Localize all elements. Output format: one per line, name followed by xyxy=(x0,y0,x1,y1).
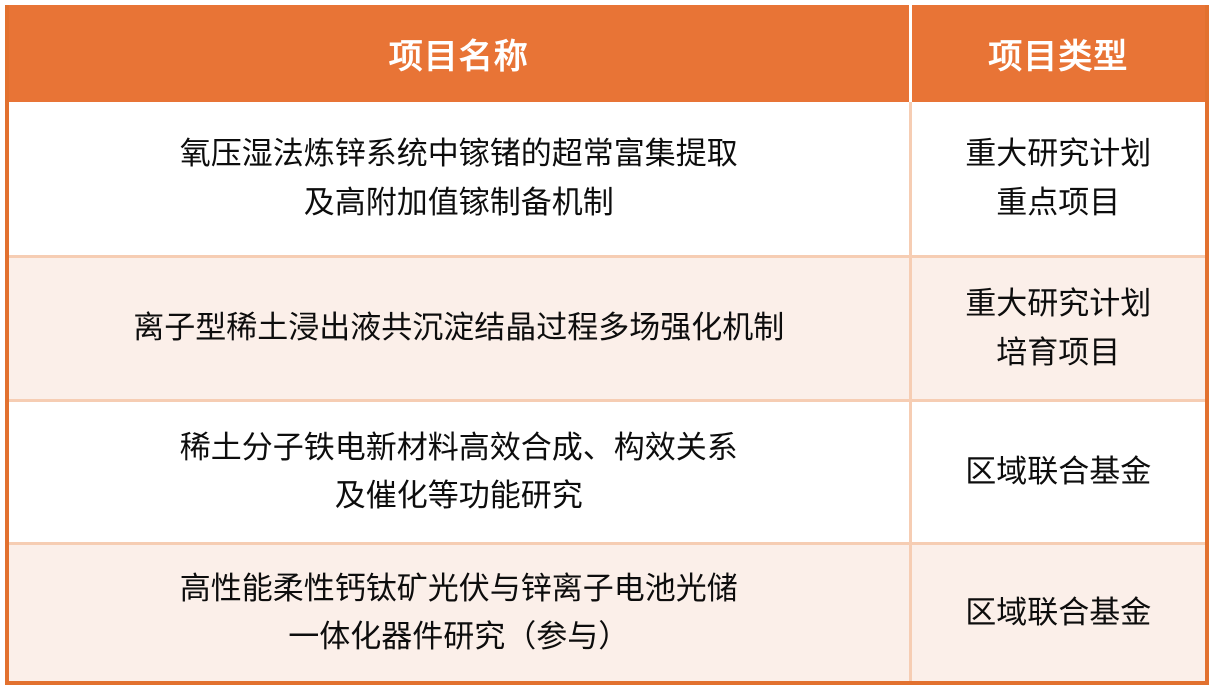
project-type-line: 区域联合基金 xyxy=(922,448,1196,496)
project-name-line: 氧压湿法炼锌系统中镓锗的超常富集提取 xyxy=(19,130,899,178)
table-body: 氧压湿法炼锌系统中镓锗的超常富集提取 及高附加值镓制备机制 重大研究计划 重点项… xyxy=(7,102,1207,683)
table-header: 项目名称 项目类型 xyxy=(7,5,1207,102)
cell-project-name: 氧压湿法炼锌系统中镓锗的超常富集提取 及高附加值镓制备机制 xyxy=(7,102,910,257)
table-row: 稀土分子铁电新材料高效合成、构效关系 及催化等功能研究 区域联合基金 xyxy=(7,401,1207,544)
cell-project-type: 区域联合基金 xyxy=(910,544,1207,684)
project-name-line: 及催化等功能研究 xyxy=(19,472,899,520)
project-name-line: 离子型稀土浸出液共沉淀结晶过程多场强化机制 xyxy=(19,304,899,352)
table-header-row: 项目名称 项目类型 xyxy=(7,5,1207,102)
table-row: 高性能柔性钙钛矿光伏与锌离子电池光储 一体化器件研究（参与） 区域联合基金 xyxy=(7,544,1207,684)
cell-project-name: 稀土分子铁电新材料高效合成、构效关系 及催化等功能研究 xyxy=(7,401,910,544)
column-header-project-name: 项目名称 xyxy=(7,5,910,102)
project-name-line: 一体化器件研究（参与） xyxy=(19,613,899,661)
column-header-project-type: 项目类型 xyxy=(910,5,1207,102)
table-row: 氧压湿法炼锌系统中镓锗的超常富集提取 及高附加值镓制备机制 重大研究计划 重点项… xyxy=(7,102,1207,257)
project-type-line: 重大研究计划 xyxy=(922,280,1196,328)
cell-project-type: 重大研究计划 培育项目 xyxy=(910,257,1207,401)
cell-project-name: 离子型稀土浸出液共沉淀结晶过程多场强化机制 xyxy=(7,257,910,401)
project-name-line: 高性能柔性钙钛矿光伏与锌离子电池光储 xyxy=(19,565,899,613)
project-type-line: 区域联合基金 xyxy=(922,589,1196,637)
project-name-line: 及高附加值镓制备机制 xyxy=(19,179,899,227)
project-type-line: 培育项目 xyxy=(922,329,1196,377)
projects-table: 项目名称 项目类型 氧压湿法炼锌系统中镓锗的超常富集提取 及高附加值镓制备机制 … xyxy=(5,5,1209,685)
cell-project-type: 重大研究计划 重点项目 xyxy=(910,102,1207,257)
project-name-line: 稀土分子铁电新材料高效合成、构效关系 xyxy=(19,424,899,472)
cell-project-type: 区域联合基金 xyxy=(910,401,1207,544)
page-root: 项目名称 项目类型 氧压湿法炼锌系统中镓锗的超常富集提取 及高附加值镓制备机制 … xyxy=(0,0,1210,679)
project-type-line: 重点项目 xyxy=(922,179,1196,227)
table-row: 离子型稀土浸出液共沉淀结晶过程多场强化机制 重大研究计划 培育项目 xyxy=(7,257,1207,401)
cell-project-name: 高性能柔性钙钛矿光伏与锌离子电池光储 一体化器件研究（参与） xyxy=(7,544,910,684)
project-type-line: 重大研究计划 xyxy=(922,130,1196,178)
